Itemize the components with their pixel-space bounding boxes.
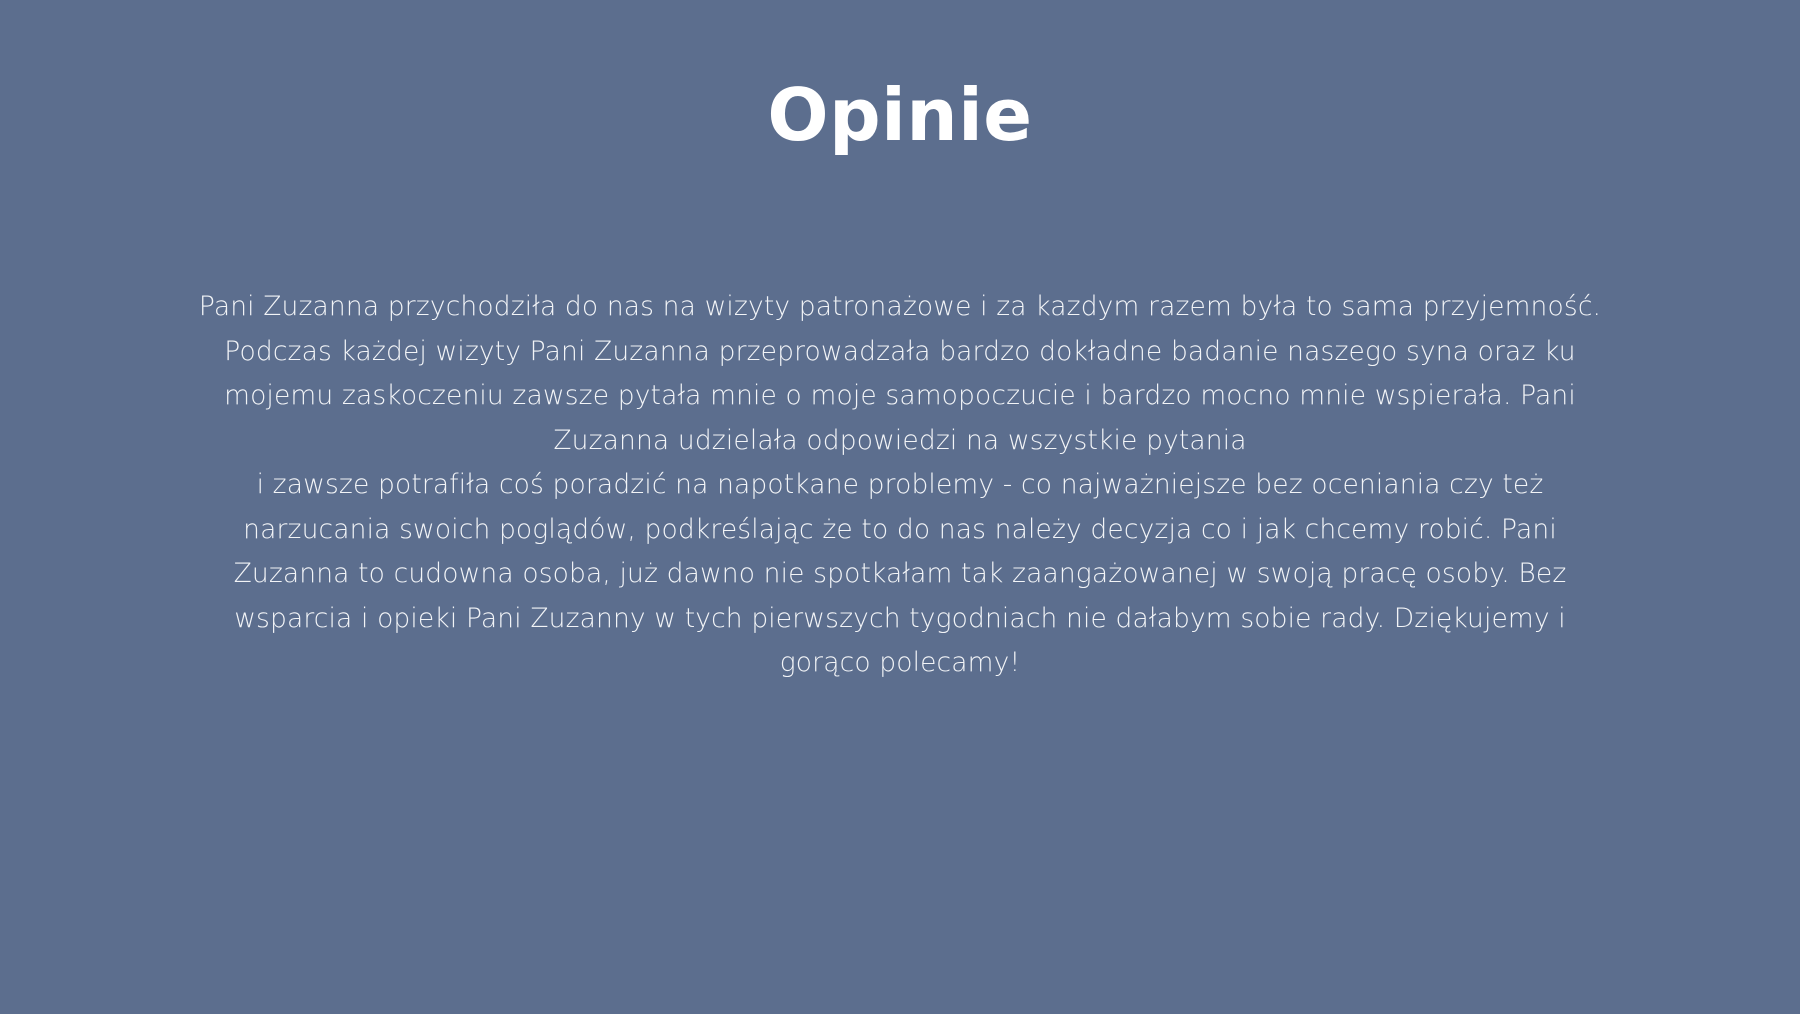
testimonial-paragraph: i zawsze potrafiła coś poradzić na napot… [190, 463, 1610, 686]
opinie-section: Opinie Pani Zuzanna przychodziła do nas … [0, 0, 1800, 1014]
testimonial-paragraph: Pani Zuzanna przychodziła do nas na wizy… [190, 285, 1610, 463]
testimonial-body: Pani Zuzanna przychodziła do nas na wizy… [190, 285, 1610, 686]
page-title: Opinie [0, 78, 1800, 154]
